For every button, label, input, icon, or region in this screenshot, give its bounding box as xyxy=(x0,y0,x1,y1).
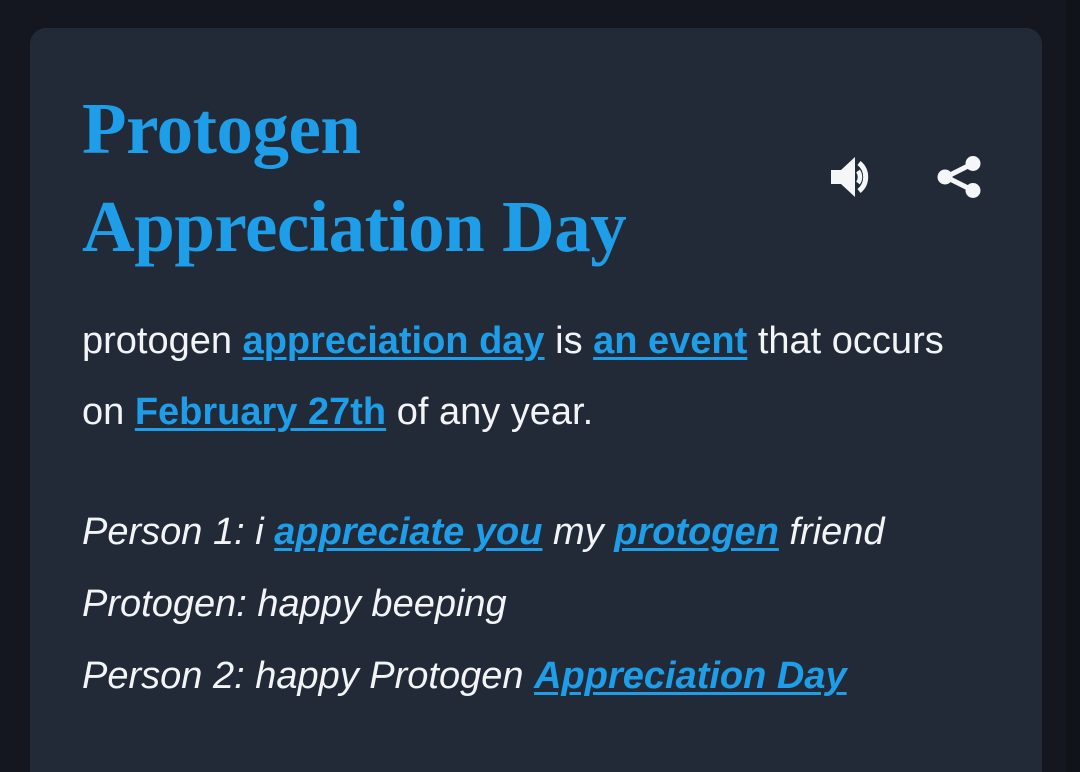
definition-text-run: Person 2: happy Protogen xyxy=(82,655,534,697)
share-icon xyxy=(932,150,986,204)
definition-text-run: friend xyxy=(779,511,885,553)
definition-text-run: Person 1: i xyxy=(82,511,274,553)
definition-link[interactable]: Appreciation Day xyxy=(534,655,847,697)
share-button[interactable] xyxy=(932,150,986,204)
definition-link[interactable]: appreciate you xyxy=(274,511,542,553)
definition-text-run: Protogen: happy beeping xyxy=(82,583,507,625)
sound-icon xyxy=(826,150,880,204)
definition-text-run: protogen xyxy=(82,320,243,362)
definition-link[interactable]: an event xyxy=(593,320,747,362)
definition-example: Person 1: i appreciate you my protogen f… xyxy=(82,496,990,712)
definition-card-header: Protogen Appreciation Day xyxy=(82,80,990,280)
definition-body: protogen appreciation day is an event th… xyxy=(82,306,990,712)
sound-button[interactable] xyxy=(826,150,880,204)
definition-card: Protogen Appreciation Day xyxy=(30,28,1042,772)
definition-actions xyxy=(826,150,986,204)
definition-link[interactable]: appreciation day xyxy=(243,320,545,362)
example-line: Protogen: happy beeping xyxy=(82,583,507,625)
definition-text-run: is xyxy=(545,320,594,362)
example-line: Person 2: happy Protogen Appreciation Da… xyxy=(82,655,847,697)
page-right-gutter xyxy=(1066,0,1080,772)
definition-text-run: my xyxy=(542,511,614,553)
definition-title: Protogen Appreciation Day xyxy=(82,80,742,276)
definition-link[interactable]: protogen xyxy=(614,511,779,553)
definition-link[interactable]: February 27th xyxy=(135,391,386,433)
definition-text-run: of any year. xyxy=(386,391,593,433)
definition-meaning: protogen appreciation day is an event th… xyxy=(82,306,982,448)
example-line: Person 1: i appreciate you my protogen f… xyxy=(82,511,884,553)
definition-page: Protogen Appreciation Day xyxy=(0,0,1080,772)
